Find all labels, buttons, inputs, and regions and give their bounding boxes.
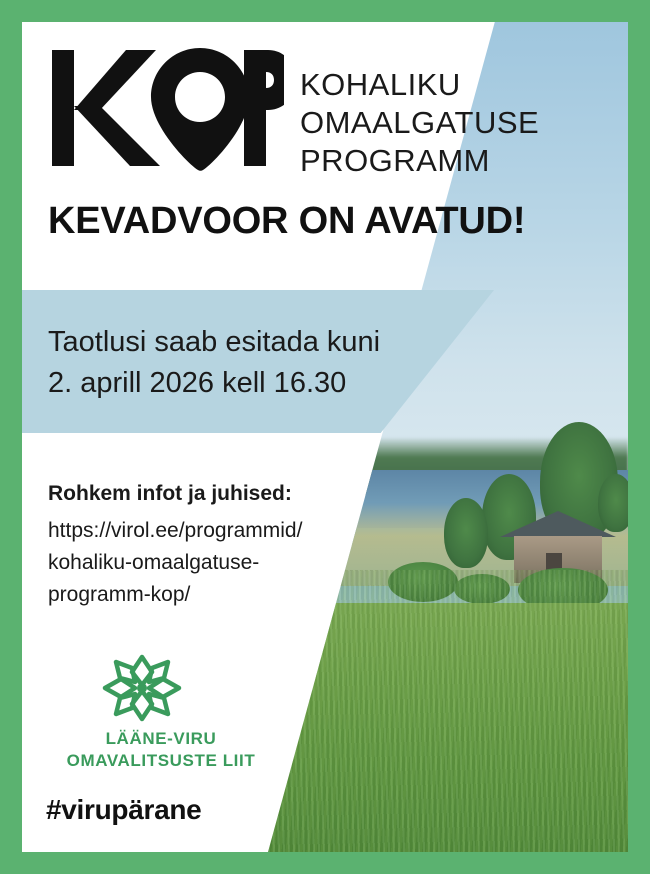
info-url-line-1[interactable]: https://virol.ee/programmid/ xyxy=(48,515,302,547)
poster-root: KOHALIKU OMAALGATUSE PROGRAMM KEVADVOOR … xyxy=(0,0,650,874)
poster-canvas: KOHALIKU OMAALGATUSE PROGRAMM KEVADVOOR … xyxy=(22,22,628,852)
info-url-line-3[interactable]: programm-kop/ xyxy=(48,579,302,611)
info-title: Rohkem infot ja juhised: xyxy=(48,482,292,506)
association-name-line-2: OMAVALITSUSTE LIIT xyxy=(36,750,286,772)
association-name: LÄÄNE-VIRU OMAVALITSUSTE LIIT xyxy=(36,728,286,772)
laane-viru-flower-icon xyxy=(94,652,190,724)
kop-pin-logo-icon xyxy=(48,44,284,172)
kop-word-1: KOHALIKU xyxy=(300,66,539,104)
info-url-line-2[interactable]: kohaliku-omaalgatuse- xyxy=(48,547,302,579)
deadline-line-2: 2. aprill 2026 kell 16.30 xyxy=(48,363,380,404)
association-name-line-1: LÄÄNE-VIRU xyxy=(36,728,286,750)
deadline-line-1: Taotlusi saab esitada kuni xyxy=(48,322,380,363)
kop-word-2: OMAALGATUSE xyxy=(300,104,539,142)
kop-logo: KOHALIKU OMAALGATUSE PROGRAMM xyxy=(48,44,539,179)
kop-logo-words: KOHALIKU OMAALGATUSE PROGRAMM xyxy=(300,66,539,179)
deadline-text: Taotlusi saab esitada kuni 2. aprill 202… xyxy=(48,322,380,404)
info-url[interactable]: https://virol.ee/programmid/ kohaliku-om… xyxy=(48,515,302,611)
kop-word-3: PROGRAMM xyxy=(300,142,539,180)
hashtag: #virupärane xyxy=(46,794,201,826)
headline: KEVADVOOR ON AVATUD! xyxy=(48,200,525,243)
poster-content: KOHALIKU OMAALGATUSE PROGRAMM KEVADVOOR … xyxy=(22,22,628,852)
